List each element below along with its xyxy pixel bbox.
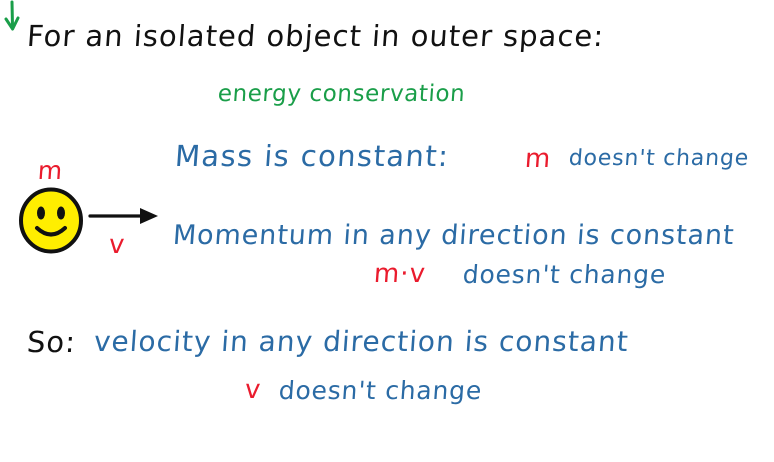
object-mass-label: m: [37, 158, 64, 183]
conclusion-text: velocity in any direction is constant: [93, 328, 630, 356]
arrow-right-icon: [88, 203, 162, 229]
handwritten-physics-note: For an isolated object in outer space: e…: [0, 0, 774, 462]
smiley-face-icon: [18, 187, 84, 254]
conclusion-symbol-red: v: [244, 377, 262, 403]
conclusion-prefix: So:: [26, 328, 77, 357]
mass-statement-text: Mass is constant:: [174, 142, 450, 171]
momentum-consequence-text: doesn't change: [462, 262, 667, 287]
intro-line: For an isolated object in outer space:: [26, 22, 605, 51]
conclusion-consequence-text: doesn't change: [278, 378, 483, 403]
mass-symbol-red: m: [524, 146, 552, 172]
momentum-symbol-red: m·v: [373, 261, 427, 287]
mass-consequence-text: doesn't change: [568, 148, 750, 170]
object-velocity-label: v: [108, 232, 126, 258]
arrow-down-icon: [0, 0, 24, 34]
energy-conservation-label: energy conservation: [217, 83, 466, 106]
momentum-statement-text: Momentum in any direction is constant: [172, 222, 735, 249]
